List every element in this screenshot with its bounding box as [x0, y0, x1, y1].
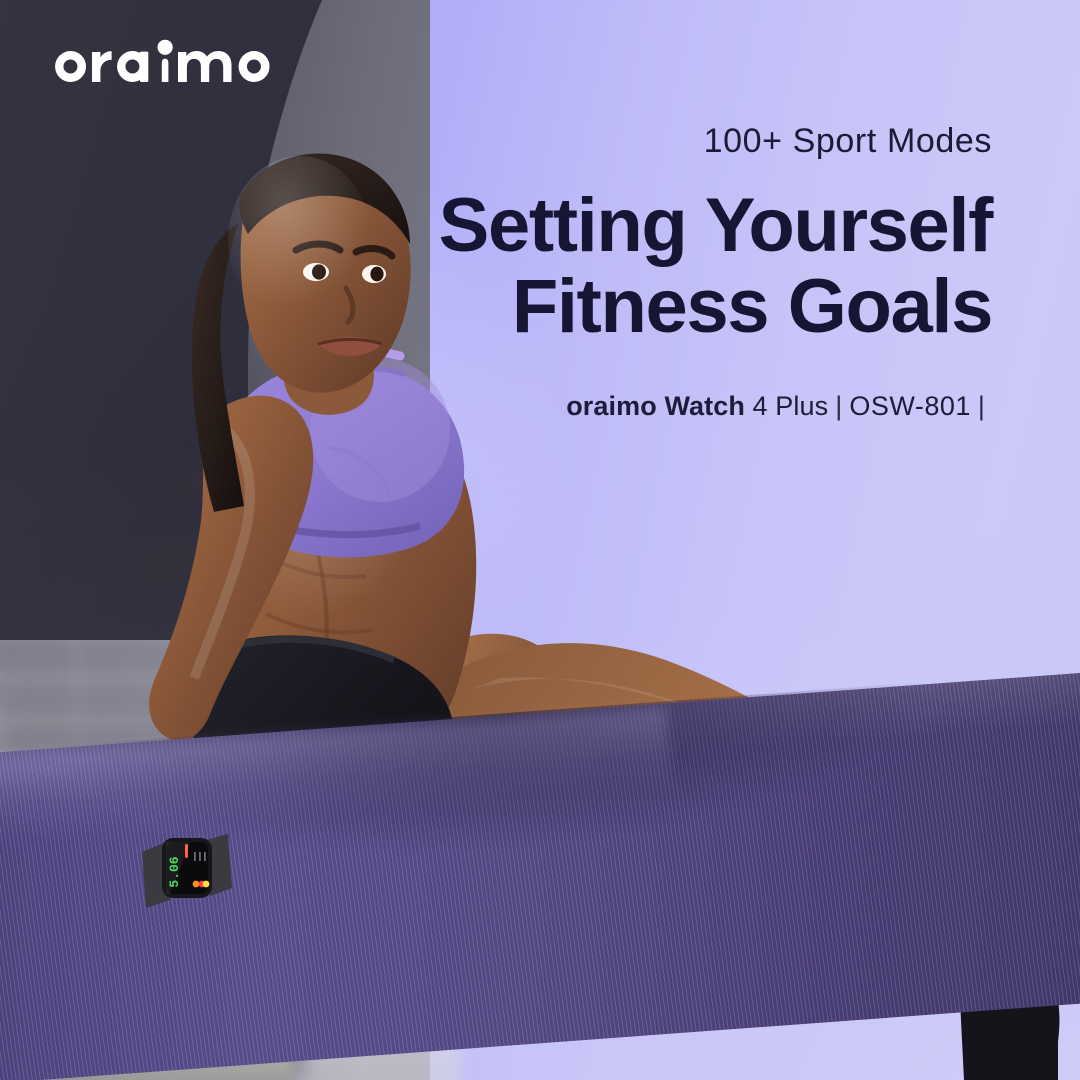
- separator-2: |: [971, 391, 992, 421]
- page-title: Setting Yourself Fitness Goals: [232, 186, 992, 347]
- eyebrow-text: 100+ Sport Modes: [232, 124, 992, 158]
- product-brand: oraimo Watch: [566, 391, 745, 421]
- promo-banner: 5.06 100+ Sport Modes Setting Yourself F…: [0, 0, 1080, 1080]
- product-variant: 4 Plus: [753, 391, 829, 421]
- product-sku: OSW-801: [849, 391, 971, 421]
- marketing-copy: 100+ Sport Modes Setting Yourself Fitnes…: [232, 124, 992, 447]
- smartwatch-product[interactable]: 5.06: [136, 826, 232, 918]
- headline-line-1: Setting Yourself: [232, 186, 992, 267]
- headline-line-2: Fitness Goals: [232, 267, 992, 348]
- separator-1: |: [828, 391, 849, 421]
- product-name-line: oraimo Watch 4 Plus|OSW-801|: [232, 393, 992, 420]
